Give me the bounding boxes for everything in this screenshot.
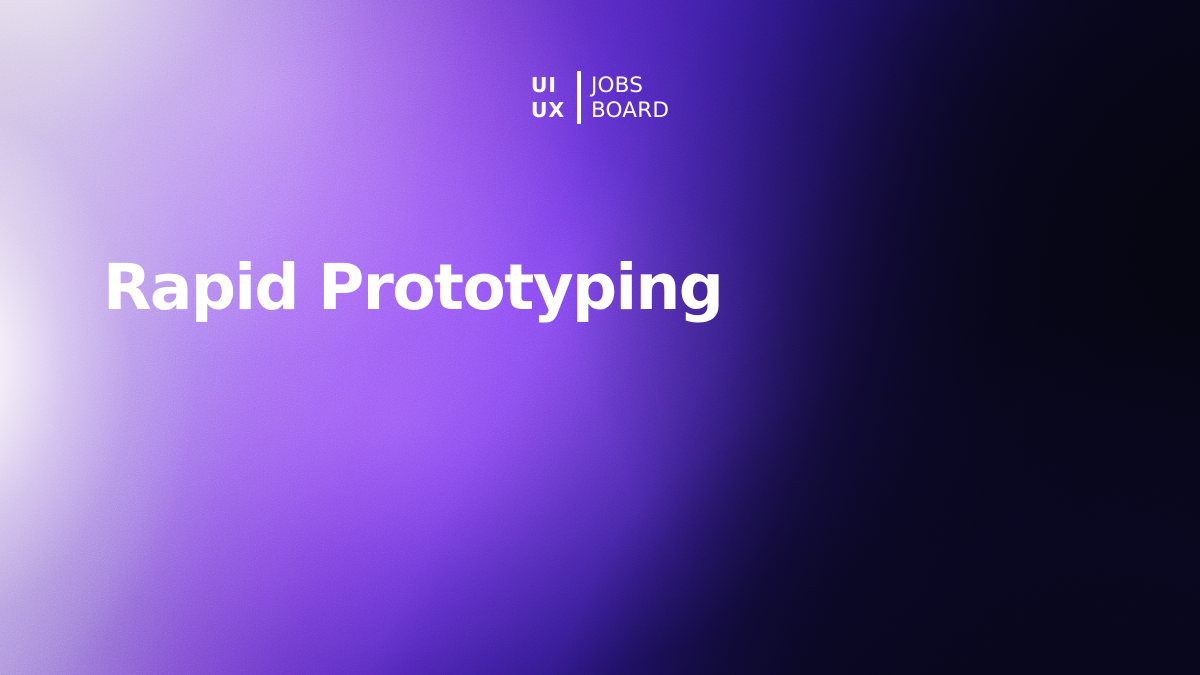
brand-logo[interactable]: UI UX JOBS BOARD	[0, 71, 1200, 124]
hero-title: Rapid Prototyping	[103, 255, 722, 322]
logo-ui-text: UI	[531, 73, 557, 98]
logo-divider-bar	[577, 71, 581, 124]
logo-uiux-block: UI UX	[531, 71, 565, 124]
logo-lockup: UI UX JOBS BOARD	[531, 71, 669, 124]
share-card-canvas: UI UX JOBS BOARD Rapid Prototyping	[0, 0, 1200, 675]
logo-ux-text: UX	[531, 98, 565, 123]
logo-jobs-text: JOBS	[591, 73, 643, 98]
logo-board-text: BOARD	[591, 98, 669, 123]
hero-heading-area: Rapid Prototyping	[103, 255, 722, 322]
card-content: UI UX JOBS BOARD Rapid Prototyping	[0, 0, 1200, 675]
logo-jobsboard-block: JOBS BOARD	[591, 71, 669, 124]
